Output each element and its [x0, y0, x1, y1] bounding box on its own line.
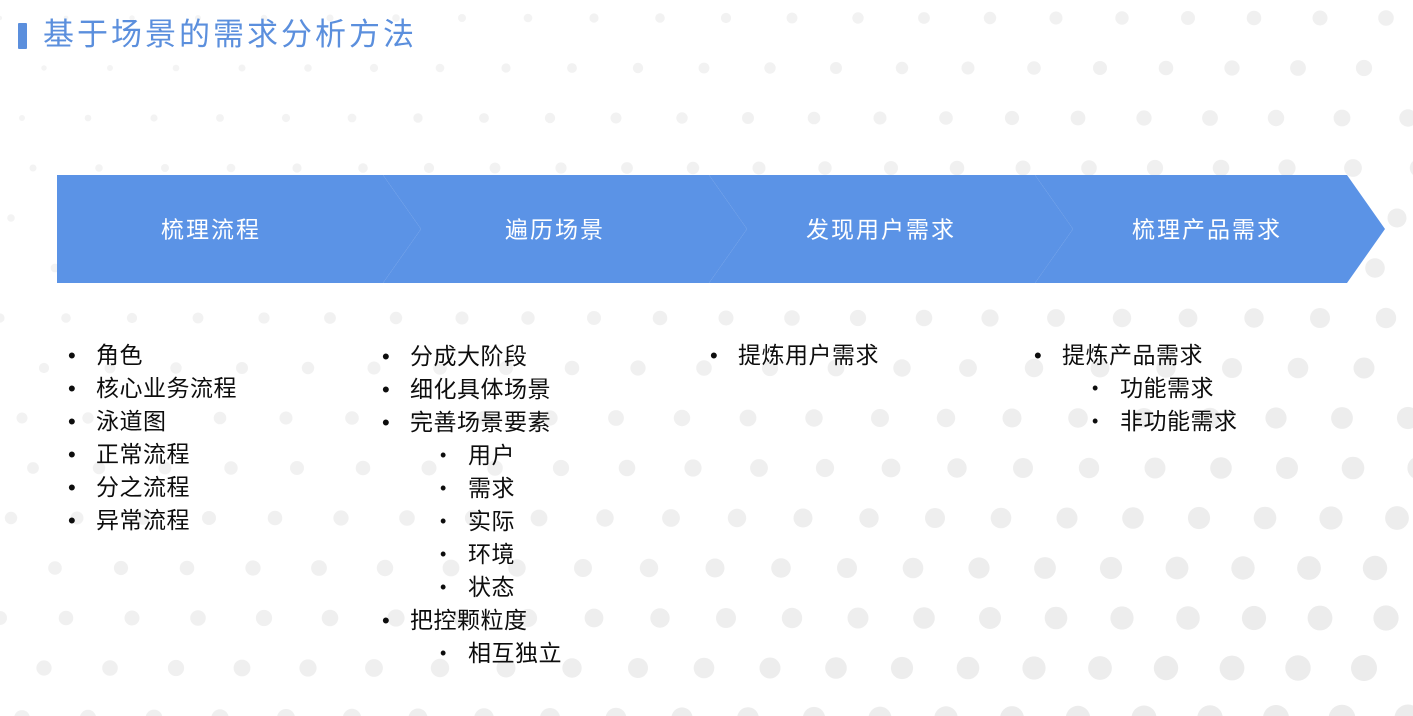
- bullet-item: •提炼用户需求: [710, 339, 879, 372]
- slide-canvas: 基于场景的需求分析方法 梳理流程 遍历场景 发现用户需求 梳理产品需求 •角色•…: [0, 0, 1413, 716]
- bullet-marker-icon: •: [382, 373, 410, 406]
- bullet-column-1: •角色•核心业务流程•泳道图•正常流程•分之流程•异常流程: [68, 339, 237, 537]
- bullet-marker-icon: •: [382, 340, 410, 373]
- bullet-item: •用户: [382, 439, 562, 472]
- bullet-label: 需求: [468, 472, 515, 505]
- bullet-label: 分之流程: [96, 471, 190, 504]
- bullet-label: 核心业务流程: [96, 372, 237, 405]
- process-step-label-4: 梳理产品需求: [1132, 219, 1282, 242]
- bullet-marker-icon: •: [1092, 405, 1120, 438]
- process-step-label-2: 遍历场景: [505, 219, 605, 242]
- bullet-item: •分之流程: [68, 471, 237, 504]
- bullet-label: 非功能需求: [1120, 405, 1238, 438]
- bullet-label: 提炼产品需求: [1062, 339, 1203, 372]
- bullet-item: •状态: [382, 571, 562, 604]
- bullet-marker-icon: •: [440, 637, 468, 670]
- bullet-label: 正常流程: [96, 438, 190, 471]
- bullet-label: 相互独立: [468, 637, 562, 670]
- bullet-marker-icon: •: [382, 604, 410, 637]
- page-title-row: 基于场景的需求分析方法: [18, 12, 417, 56]
- bullet-item: •完善场景要素: [382, 406, 562, 439]
- bullet-label: 环境: [468, 538, 515, 571]
- bullet-marker-icon: •: [440, 538, 468, 571]
- bullet-item: •异常流程: [68, 504, 237, 537]
- bullet-item: •实际: [382, 505, 562, 538]
- bullet-item: •提炼产品需求: [1034, 339, 1238, 372]
- bullet-item: •相互独立: [382, 637, 562, 670]
- bullet-label: 完善场景要素: [410, 406, 551, 439]
- bullet-column-3: •提炼用户需求: [710, 339, 879, 372]
- bullet-column-2: •分成大阶段•细化具体场景•完善场景要素•用户•需求•实际•环境•状态•把控颗粒…: [382, 340, 562, 670]
- bullet-item: •把控颗粒度: [382, 604, 562, 637]
- bullet-marker-icon: •: [68, 339, 96, 372]
- bullet-marker-icon: •: [68, 438, 96, 471]
- bullet-item: •非功能需求: [1034, 405, 1238, 438]
- bullet-item: •核心业务流程: [68, 372, 237, 405]
- bullet-label: 分成大阶段: [410, 340, 528, 373]
- bullet-marker-icon: •: [710, 339, 738, 372]
- bullet-label: 泳道图: [96, 405, 167, 438]
- page-title: 基于场景的需求分析方法: [43, 19, 417, 50]
- bullet-label: 提炼用户需求: [738, 339, 879, 372]
- bullet-label: 角色: [96, 339, 143, 372]
- bullet-item: •分成大阶段: [382, 340, 562, 373]
- bullet-label: 功能需求: [1120, 372, 1214, 405]
- bullet-label: 把控颗粒度: [410, 604, 528, 637]
- bullet-marker-icon: •: [1092, 372, 1120, 405]
- bullet-marker-icon: •: [68, 471, 96, 504]
- bullet-item: •功能需求: [1034, 372, 1238, 405]
- bullet-marker-icon: •: [440, 472, 468, 505]
- bullet-marker-icon: •: [1034, 339, 1062, 372]
- bullet-item: •泳道图: [68, 405, 237, 438]
- bullet-item: •细化具体场景: [382, 373, 562, 406]
- process-step-label-3: 发现用户需求: [806, 219, 956, 242]
- bullet-label: 状态: [468, 571, 515, 604]
- bullet-marker-icon: •: [68, 405, 96, 438]
- bullet-marker-icon: •: [68, 372, 96, 405]
- bullet-label: 细化具体场景: [410, 373, 551, 406]
- bullet-label: 实际: [468, 505, 515, 538]
- vertical-bar-icon: [18, 23, 27, 49]
- process-step-label-1: 梳理流程: [161, 219, 261, 242]
- bullet-marker-icon: •: [440, 505, 468, 538]
- bullet-label: 异常流程: [96, 504, 190, 537]
- bullet-item: •正常流程: [68, 438, 237, 471]
- bullet-marker-icon: •: [440, 439, 468, 472]
- bullet-item: •需求: [382, 472, 562, 505]
- bullet-label: 用户: [468, 439, 515, 472]
- bullet-item: •环境: [382, 538, 562, 571]
- bullet-item: •角色: [68, 339, 237, 372]
- bullet-marker-icon: •: [68, 504, 96, 537]
- bullet-marker-icon: •: [440, 571, 468, 604]
- bullet-marker-icon: •: [382, 406, 410, 439]
- bullet-column-4: •提炼产品需求•功能需求•非功能需求: [1034, 339, 1238, 438]
